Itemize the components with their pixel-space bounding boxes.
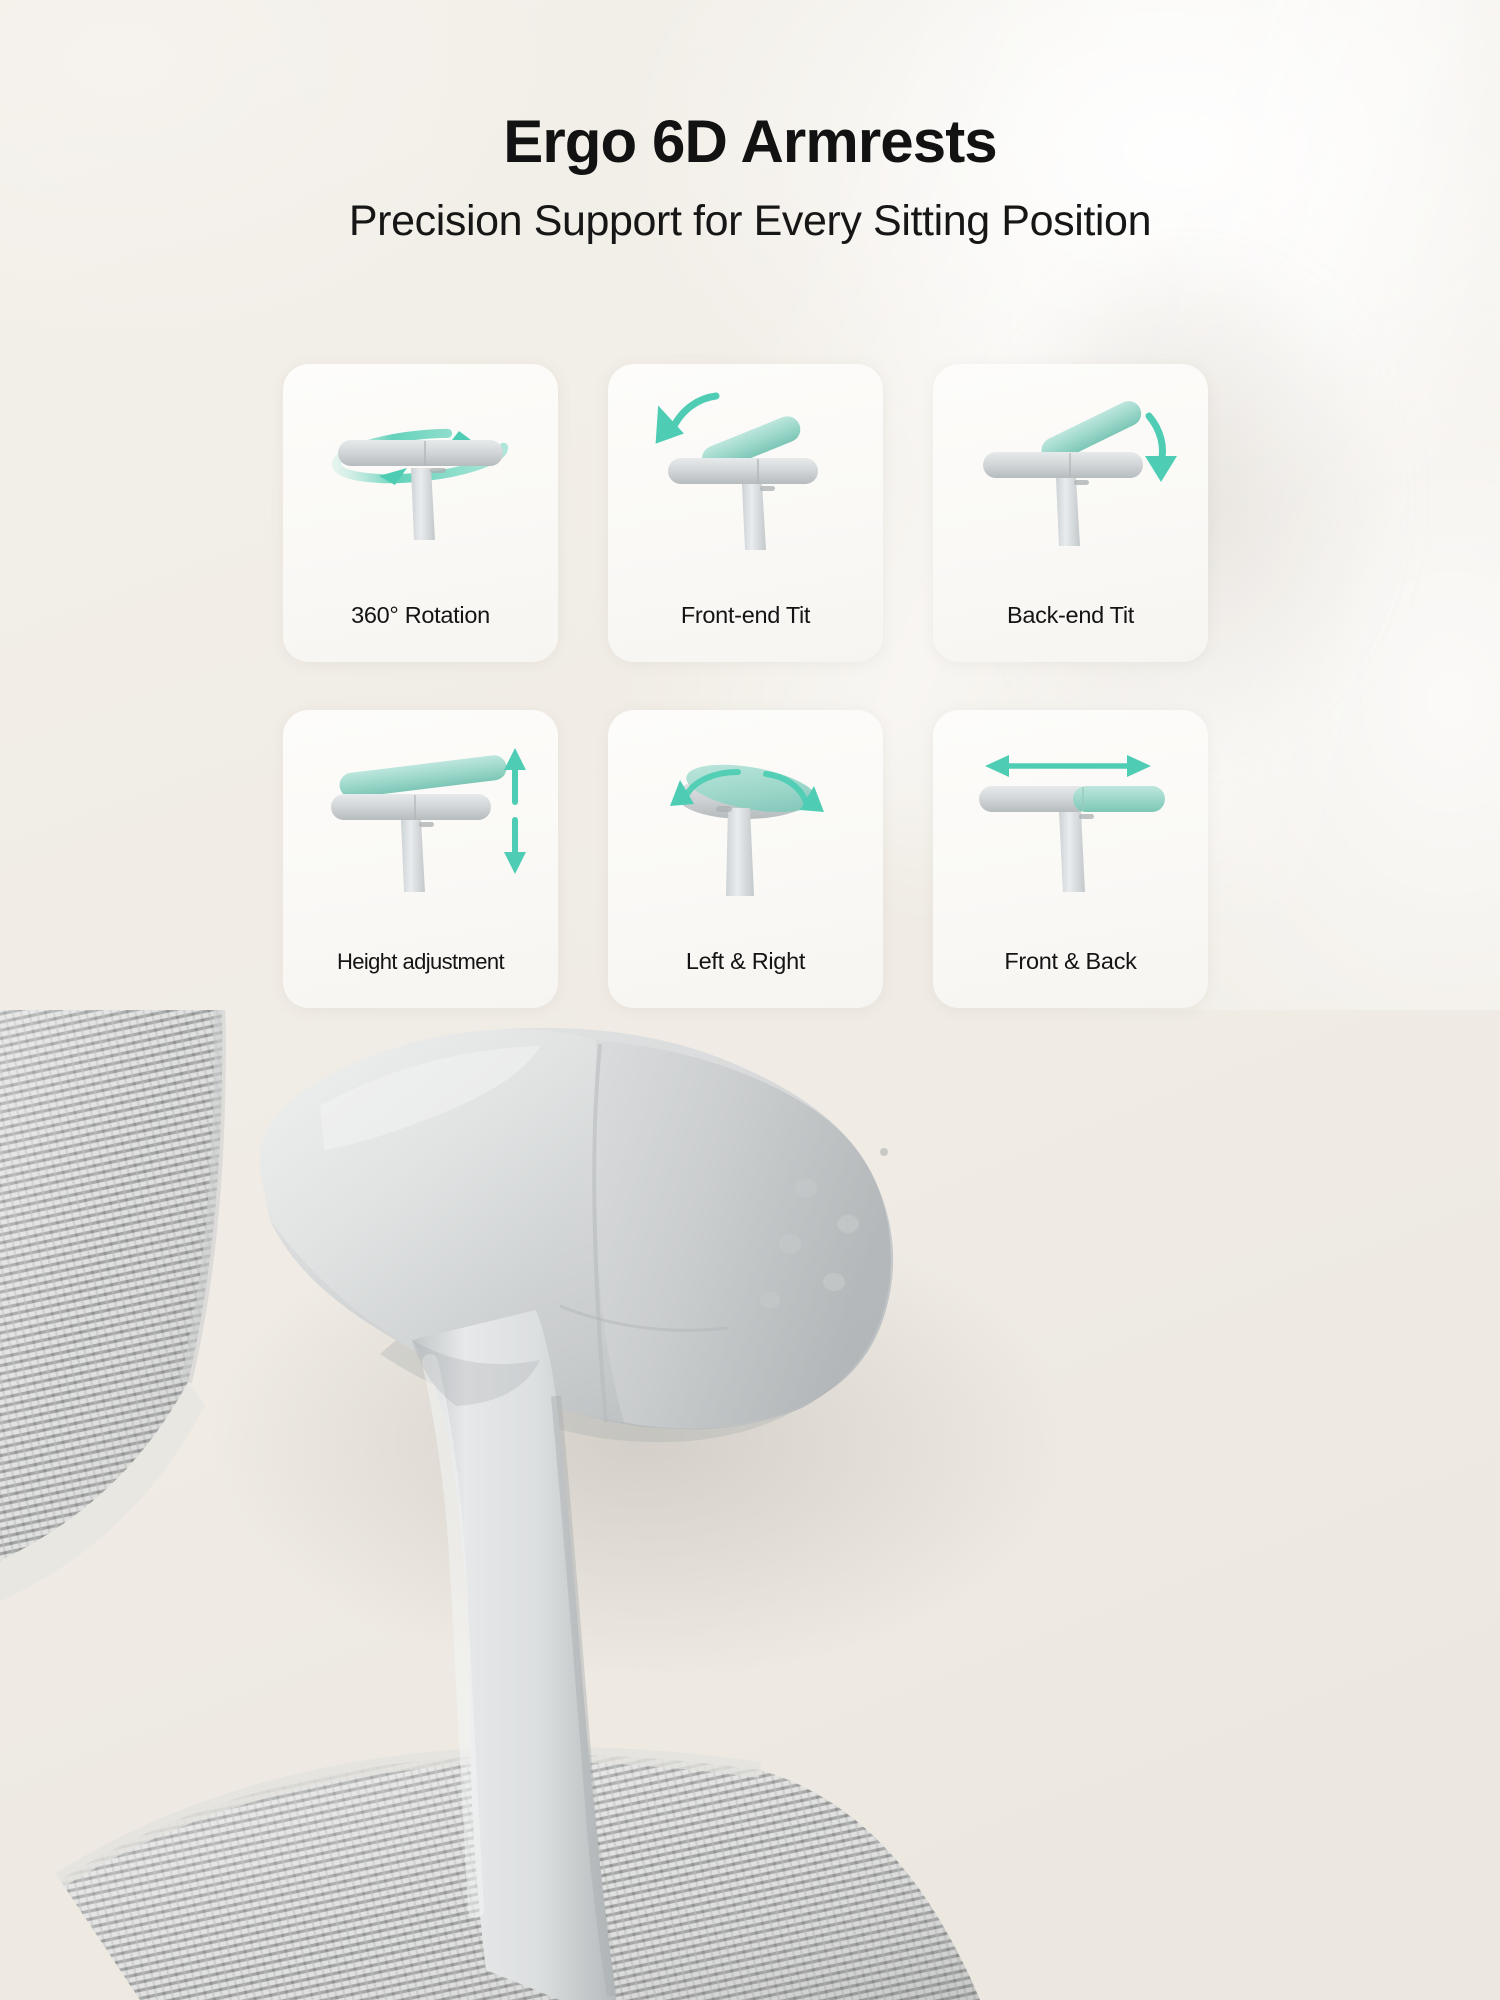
product-photo-armrest bbox=[0, 1010, 1500, 2000]
armrest-back-tilt-icon bbox=[933, 364, 1208, 586]
armrest-rotation-icon bbox=[283, 364, 558, 586]
feature-card-rotation[interactable]: 360° Rotation bbox=[283, 364, 558, 662]
feature-card-grid: 360° Rotation bbox=[283, 364, 1245, 1008]
feature-card-front-back[interactable]: Front & Back bbox=[933, 710, 1208, 1008]
feature-card-back-end-tilt[interactable]: Back-end Tit bbox=[933, 364, 1208, 662]
armrest-slide-icon bbox=[933, 710, 1208, 932]
feature-label-left-right: Left & Right bbox=[608, 948, 883, 975]
armrest-front-tilt-icon bbox=[608, 364, 883, 586]
feature-card-left-right[interactable]: Left & Right bbox=[608, 710, 883, 1008]
feature-card-height-adjustment[interactable]: Height adjustment bbox=[283, 710, 558, 1008]
page-title: Ergo 6D Armrests bbox=[0, 112, 1500, 172]
feature-label-front-end-tilt: Front-end Tit bbox=[608, 602, 883, 629]
armrest-swivel-icon bbox=[608, 710, 883, 932]
feature-label-front-back: Front & Back bbox=[933, 948, 1208, 975]
feature-label-rotation: 360° Rotation bbox=[283, 602, 558, 629]
feature-label-height-adjustment: Height adjustment bbox=[283, 949, 558, 975]
feature-card-front-end-tilt[interactable]: Front-end Tit bbox=[608, 364, 883, 662]
page-subtitle: Precision Support for Every Sitting Posi… bbox=[0, 200, 1500, 243]
armrest-height-icon bbox=[283, 710, 558, 932]
feature-label-back-end-tilt: Back-end Tit bbox=[933, 602, 1208, 629]
header: Ergo 6D Armrests Precision Support for E… bbox=[0, 112, 1500, 243]
